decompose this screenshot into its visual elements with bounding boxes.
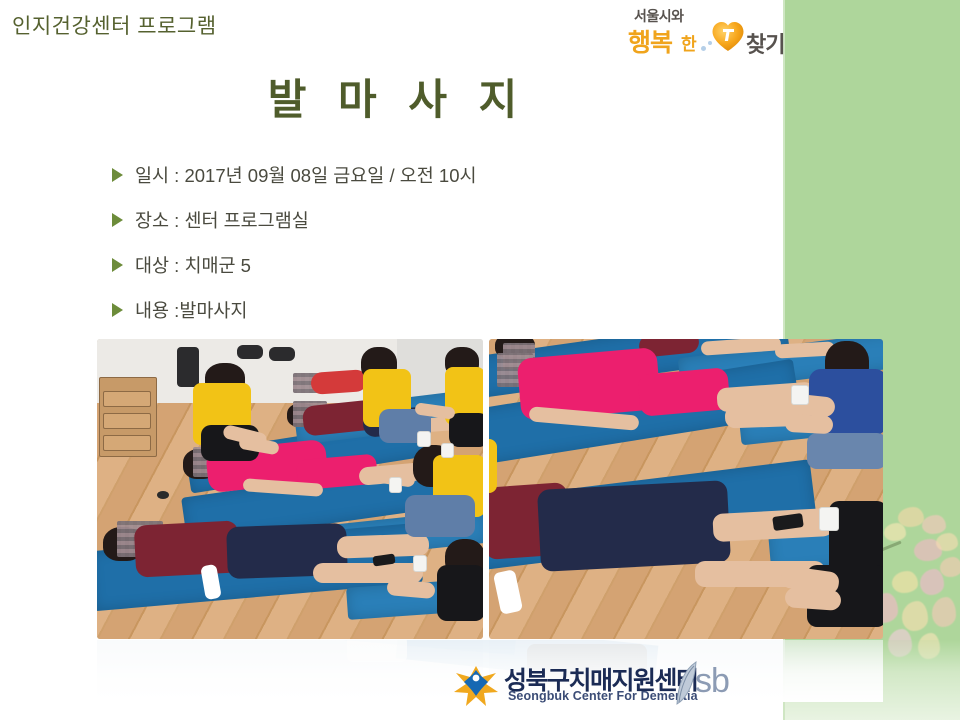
- triangle-right-icon: [112, 258, 123, 272]
- triangle-right-icon: [112, 213, 123, 227]
- photo-foot-massage-closeup: [489, 339, 883, 639]
- heart-icon: [711, 20, 745, 52]
- footer-logo: 성북구치매지원센터 Seongbuk Center For Dementia s…: [452, 658, 772, 714]
- seoul-logo-dot-1: [701, 46, 706, 51]
- list-item: 장소 : 센터 프로그램실: [112, 197, 732, 242]
- footer-logo-english: Seongbuk Center For Dementia: [508, 689, 698, 703]
- list-item: 일시 : 2017년 09월 08일 금요일 / 오전 10시: [112, 152, 732, 197]
- seoul-logo-happy: 행복: [628, 23, 672, 59]
- bullet-label-datetime: 일시 : 2017년 09월 08일 금요일 / 오전 10시: [135, 162, 477, 188]
- footer-logo-mark: sb: [695, 662, 729, 701]
- presentation-slide: 인지건강센터 프로그램 서울시와 행복 한 찾기 발 마 사 지: [0, 0, 960, 720]
- photo-foot-massage-wide: [97, 339, 483, 639]
- page-header-label: 인지건강센터 프로그램: [12, 10, 217, 40]
- bullet-label-location: 장소 : 센터 프로그램실: [135, 207, 309, 233]
- bullet-label-target: 대상 : 치매군 5: [135, 252, 251, 278]
- seoul-logo-find: 찾기: [746, 27, 784, 59]
- bullet-list: 일시 : 2017년 09월 08일 금요일 / 오전 10시 장소 : 센터 …: [112, 152, 732, 332]
- triangle-right-icon: [112, 168, 123, 182]
- list-item: 대상 : 치매군 5: [112, 242, 732, 287]
- bullet-label-content: 내용 :발마사지: [135, 297, 247, 323]
- list-item: 내용 :발마사지: [112, 287, 732, 332]
- seoul-logo-han: 한: [681, 30, 696, 55]
- page-title: 발 마 사 지: [0, 66, 785, 127]
- seongbuk-mark-icon: [452, 664, 500, 708]
- seoul-happy-logo: 서울시와 행복 한 찾기: [628, 6, 788, 58]
- triangle-right-icon: [112, 303, 123, 317]
